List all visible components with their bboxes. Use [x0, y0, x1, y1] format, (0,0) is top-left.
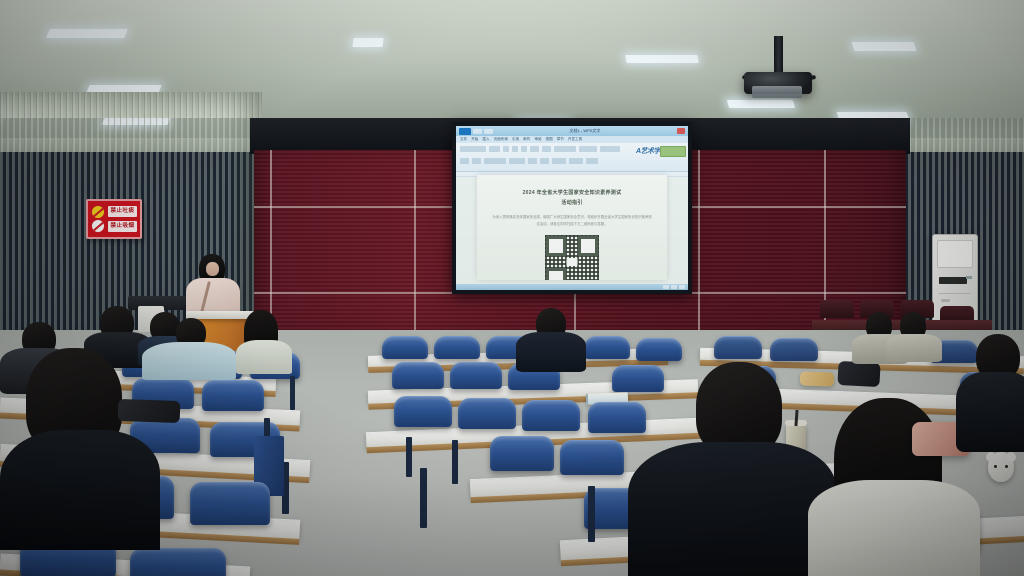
black-backpack	[837, 361, 880, 387]
plush-eye-right	[1005, 465, 1008, 468]
ceiling-light-9	[851, 42, 916, 51]
document-body-text: 为深入贯彻落实总体国家安全观，增强广大师生国家安全意识，现组织开展全省大学生国家…	[487, 214, 657, 228]
desk-leg-r1	[406, 437, 412, 477]
seat-r3-2[interactable]	[458, 398, 516, 429]
tab-developer[interactable]: 开发工具	[568, 137, 582, 142]
bold-icon[interactable]	[503, 146, 509, 152]
tab-home[interactable]: 开始	[471, 137, 478, 142]
font-name-control[interactable]	[460, 146, 486, 152]
ac-display-vent	[939, 277, 967, 284]
qr-finder-bottom-left	[546, 268, 566, 280]
no-smoking-icon	[91, 219, 105, 233]
ceiling-light-1	[46, 29, 128, 38]
prohibition-sign: 禁止吐痰 禁止吸烟	[86, 199, 142, 239]
student-dark-jacket-right	[628, 442, 836, 576]
projector-mount-pole	[774, 36, 783, 76]
student-right-edge-dark	[956, 372, 1024, 452]
seat-rear-right-2[interactable]	[770, 338, 818, 361]
ceiling-light-8	[726, 100, 794, 108]
tab-review[interactable]: 审阅	[534, 137, 541, 142]
app-ribbon: A艺术字	[456, 143, 688, 172]
ceiling-light-7	[625, 55, 698, 63]
app-logo-icon	[459, 128, 471, 135]
student-right-rear-2	[886, 334, 942, 362]
student-dark-jacket-foreground-left	[0, 430, 160, 550]
close-icon	[677, 128, 685, 134]
seat-r2-2[interactable]	[450, 362, 502, 389]
undo-icon	[484, 129, 493, 134]
sign-row-no-spitting: 禁止吐痰	[91, 205, 137, 219]
tab-section[interactable]: 章节	[557, 137, 564, 142]
app-title-text: 文档1 - WPS文字	[495, 128, 675, 134]
quick-save-icon	[473, 129, 482, 134]
wordart-icon[interactable]: A艺术字	[636, 146, 660, 156]
student-navy-jacket-center	[516, 332, 586, 372]
seat-l4-3[interactable]	[190, 482, 270, 525]
seat-r3-3[interactable]	[522, 400, 580, 431]
clipboard-icon[interactable]	[460, 158, 469, 164]
student-light-blue-jacket	[142, 342, 236, 380]
panel-seam-v2	[414, 150, 416, 355]
seat-r2-1[interactable]	[392, 362, 444, 389]
seat-far-r2[interactable]	[434, 336, 480, 359]
ac-handle-icon	[941, 299, 950, 302]
panel-seam-v4	[698, 150, 700, 355]
ac-upper-panel	[937, 240, 973, 268]
seat-r3-4[interactable]	[588, 402, 646, 433]
desk-leg-r2	[452, 440, 458, 484]
taskbar-item-2[interactable]	[671, 285, 677, 289]
ac-indicator-icon	[966, 276, 972, 279]
plush-ear-right	[1006, 452, 1016, 462]
seat-l5-2[interactable]	[130, 548, 226, 576]
styles-group[interactable]	[600, 146, 620, 152]
seat-l2-2[interactable]	[202, 380, 264, 411]
seat-r4-1[interactable]	[490, 436, 554, 471]
no-spitting-label: 禁止吐痰	[108, 206, 137, 217]
projected-image: 文档1 - WPS文字 文件 开始 插入 页面布局 引用 邮件 审阅 视图 章节…	[456, 126, 688, 290]
tab-insert[interactable]: 插入	[482, 137, 489, 142]
os-taskbar	[456, 284, 688, 290]
snack-bag	[800, 371, 834, 386]
seat-r4-2[interactable]	[560, 440, 624, 475]
font-size-control[interactable]	[489, 146, 500, 152]
seat-r2-4[interactable]	[612, 365, 664, 392]
tab-file[interactable]: 文件	[460, 137, 467, 142]
fontcolor-icon[interactable]	[542, 146, 551, 152]
sign-row-no-smoking: 禁止吸烟	[91, 219, 137, 233]
spacing-control[interactable]	[484, 158, 506, 164]
student-white-hoodie-long-hair	[808, 480, 980, 576]
seat-far-r4[interactable]	[584, 336, 630, 359]
seat-r3-1[interactable]	[394, 396, 452, 427]
ribbon-row-bottom	[456, 155, 688, 167]
desk-leg-r3	[588, 486, 595, 542]
taskbar-item-1[interactable]	[663, 285, 669, 289]
tab-mail[interactable]: 邮件	[523, 137, 530, 142]
lecture-hall-scene: 禁止吐痰 禁止吸烟	[0, 0, 1024, 576]
document-title-line2: 活动指引	[487, 199, 657, 209]
qr-center-logo	[567, 258, 578, 266]
taskbar-item-3[interactable]	[679, 285, 685, 289]
align-group[interactable]	[554, 146, 576, 152]
highlight-icon[interactable]	[530, 146, 539, 152]
save-and-share-button[interactable]	[660, 146, 686, 157]
tab-layout[interactable]: 页面布局	[494, 137, 508, 142]
student-cream-knit-ponytail	[236, 340, 292, 374]
seat-far-r1[interactable]	[382, 336, 428, 359]
desk-leg-l3	[290, 376, 295, 410]
italic-icon[interactable]	[512, 146, 518, 152]
seat-rear-right-1[interactable]	[714, 336, 762, 359]
table-icon[interactable]	[552, 158, 566, 164]
document-page: 2024 年全省大学生国家安全知识素养测试 活动指引 为深入贯彻落实总体国家安全…	[477, 175, 667, 280]
ceiling-light-6	[352, 38, 383, 47]
underline-icon[interactable]	[521, 146, 527, 152]
qr-code	[545, 235, 599, 280]
border-icon[interactable]	[528, 158, 537, 164]
projector-lens-housing	[752, 86, 802, 98]
no-smoking-label: 禁止吸烟	[108, 221, 137, 232]
plush-eye-left	[994, 465, 997, 468]
projection-screen-frame: 文档1 - WPS文字 文件 开始 插入 页面布局 引用 邮件 审阅 视图 章节…	[452, 122, 692, 294]
seat-far-r5[interactable]	[636, 338, 682, 361]
desk-bag-left	[118, 399, 181, 423]
stage-chair-1	[820, 300, 854, 318]
plush-toy	[988, 452, 1014, 482]
app-ribbon-tabs: 文件 开始 插入 页面布局 引用 邮件 审阅 视图 章节 开发工具	[456, 136, 688, 143]
indent-group[interactable]	[509, 158, 525, 164]
app-title-bar: 文档1 - WPS文字	[456, 126, 688, 136]
shading-icon[interactable]	[540, 158, 549, 164]
find-icon[interactable]	[569, 158, 583, 164]
desk-leg-r4	[420, 468, 427, 528]
document-title-line1: 2024 年全省大学生国家安全知识素养测试	[487, 189, 657, 199]
plush-ear-left	[986, 452, 996, 462]
presenter-face	[206, 262, 219, 276]
no-spitting-icon	[91, 205, 105, 219]
tab-view[interactable]: 视图	[546, 137, 553, 142]
select-icon[interactable]	[586, 158, 598, 164]
tab-reference[interactable]: 引用	[512, 137, 519, 142]
list-group[interactable]	[579, 146, 597, 152]
format-painter-icon[interactable]	[472, 158, 481, 164]
